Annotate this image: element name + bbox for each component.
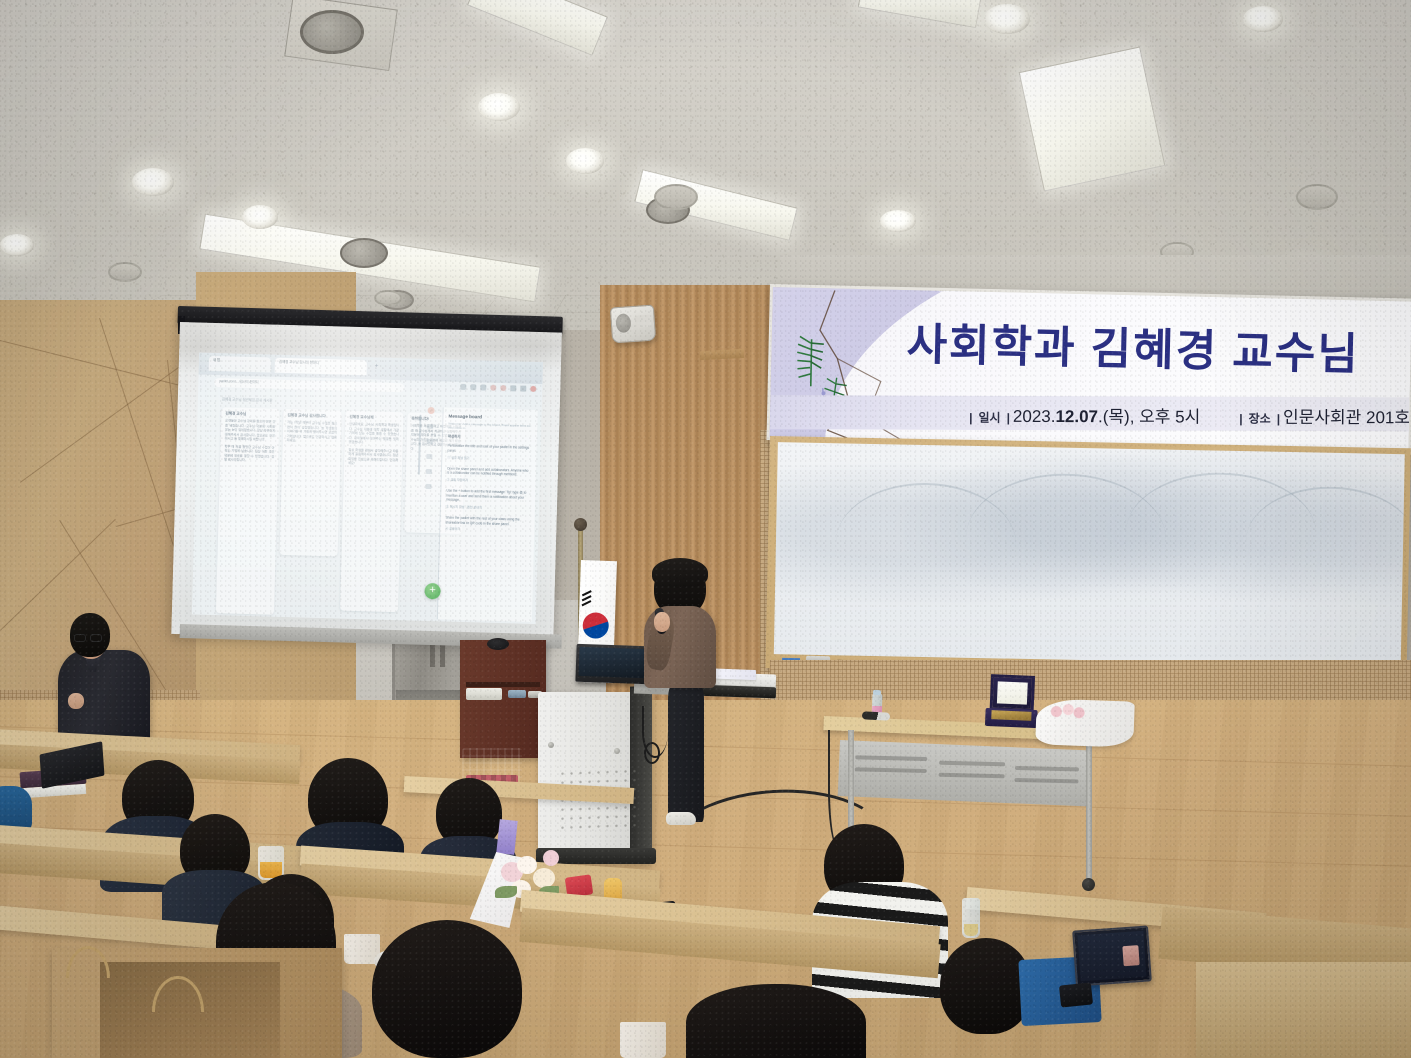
browser-toolbar [460,384,536,392]
ceiling-downlight [984,4,1030,34]
desk-side-panel [1196,962,1411,1058]
award-plaque-box [985,674,1039,728]
more-icon[interactable] [426,469,432,474]
browser-tab-2[interactable]: 김혜경 교수님 감사의 한마디 [275,358,367,376]
table-leg [1086,742,1092,882]
column-body: 오랫동안 교수님 강의를 들으며 많은 것을 배웠습니다. 교수님 덕분에 사회… [225,419,276,443]
id-photo [1122,945,1139,966]
handheld-microphone-icon[interactable] [862,711,890,720]
presenter-shoe [666,812,696,825]
board-column[interactable]: 김혜경 교수님 감사합니다 저는 1학년 때부터 교수님 수업을 들으면서 많이… [280,409,342,557]
padlet-board: 김혜경 교수님 정년퇴임 감사 게시판 김혜경 교수님 오랫동안 교수님 강의를… [192,393,542,625]
lectern-lock-icon [614,748,620,754]
panel-slot [939,773,1005,779]
panel-card-text: Personalize the title and look of your p… [447,444,531,456]
tablet-screen [1077,931,1146,981]
audience-head [686,984,866,1058]
ceiling-downlight-off [654,184,698,210]
panel-card-tag: ④ 공유하기 [445,527,529,533]
alert-icon[interactable] [480,384,486,390]
projector-screen: 새 탭 김혜경 교수님 감사의 한마디 + padlet.com/…/감사의-한… [171,322,562,645]
award-box-lid [990,674,1035,712]
panel-card[interactable]: Use the + button to add the first messag… [446,488,531,510]
banner-date-suffix: .(목), 오후 5시 [1098,402,1200,427]
banner-title: 사회학과 김혜경 교수님 [906,308,1361,382]
presenter-fringe [652,558,708,588]
column-heading: 김혜경 교수님께 [349,415,399,421]
banner-date-label-text: 일시 [975,409,1003,426]
lectern-lock-icon [548,742,554,748]
panel-card[interactable]: Personalize the title and look of your p… [447,444,531,462]
new-tab-plus-icon[interactable]: + [375,363,379,369]
audience-head [940,938,1032,1034]
presenter-legs [668,686,704,822]
bookmark-star-icon[interactable] [510,385,516,391]
padlet-side-panel: Message board Welcome! Add a message to … [437,407,538,622]
bottle-cap [873,690,881,695]
extension-icon[interactable] [500,385,506,391]
panel-card[interactable]: Share the padlet with the rest of your c… [445,515,529,533]
ceiling-downlight [132,168,174,196]
flower [543,850,559,866]
panel-card-tag: ② 공동 작업하기 [447,477,531,483]
ceiling-downlight [566,148,604,174]
banner-date-bold: 12.07 [1055,407,1098,427]
avatar[interactable] [530,386,536,392]
panel-card[interactable]: Open the share panel and add collaborato… [447,466,531,484]
panel-card-tag: ③ 메시지 작성 · 멘션 보내기 [446,504,530,510]
panel-subtitle: Welcome! Add a message to the board. Pos… [448,422,532,433]
banner-date-prefix: 2023. [1013,407,1056,427]
banner-date-label: | [1004,411,1013,425]
ceiling-downlight [0,234,34,256]
wall-facet-line [0,340,196,404]
glasses-lens [74,634,86,642]
bouquet-flowers [1048,701,1091,722]
plastic-cup [620,1022,666,1058]
water-bottle [962,898,980,938]
ceiling-downlight [242,205,278,229]
air-vent-icon [340,238,388,268]
browser-address-bar[interactable]: padlet.com/…/감사의-한마디 [214,378,404,392]
plastic-cup [344,934,380,964]
ceiling-downlight [880,210,916,232]
lectern-monitor [575,644,648,684]
panel-slot [855,767,927,773]
avatar[interactable] [427,407,434,414]
door-handle-icon[interactable] [430,645,435,667]
banner-info-line: | 일시 | 2023. 12.07 .(목), 오후 5시 | 장소 | 인문… [966,402,1410,429]
tablet-device[interactable] [1072,925,1152,986]
gear-icon[interactable] [427,424,433,429]
eyeglasses-icon [74,634,104,642]
panel-slot [1014,778,1078,784]
panel-slot [939,761,1005,767]
column-body: 항상 학생들 편에서 생각해주시고 따뜻하게 응원해주셔서 감사했습니다. 정년… [348,448,398,467]
sidebar-icon[interactable] [520,386,526,392]
browser-tab-1[interactable]: 새 탭 [209,356,271,373]
panel-slot [855,755,927,761]
event-banner: 사회학과 김혜경 교수님 | 일시 | 2023. 12.07 .(목), 오후… [766,284,1411,455]
glasses-lens [90,634,102,642]
projected-browser-window: 새 탭 김혜경 교수님 감사의 한마디 + padlet.com/…/감사의-한… [192,353,543,625]
smartphone[interactable] [1059,982,1093,1007]
cabinet-top-device [487,638,509,650]
fern-leaf-icon [789,336,827,387]
side-table-modesty-panel [838,740,1092,807]
extension-icon[interactable] [490,385,496,391]
filter-icon[interactable] [426,454,432,459]
taeguk-symbol [582,612,609,639]
flower [533,868,555,888]
panel-card-text: Use the + button to add the first messag… [446,488,530,504]
board-column[interactable]: 김혜경 교수님 오랫동안 교수님 강의를 들으며 많은 것을 배웠습니다. 교수… [216,407,280,615]
board-column[interactable]: 김혜경 교수님께 안녕하세요, 교수님. 사회학과 학생입니다. 교수님 덕분에… [340,411,404,613]
panel-slot [1015,766,1079,772]
presenter-hand [654,612,670,632]
whiteboard-frame [766,436,1411,680]
lecture-hall-photo: 새 탭 김혜경 교수님 감사의 한마디 + padlet.com/…/감사의-한… [0,0,1411,1058]
banner-place-value: 인문사회관 201호 [1283,403,1410,428]
wall-facet-line [20,353,196,483]
collapse-icon[interactable] [425,484,431,489]
edit-icon[interactable] [470,384,476,390]
ceiling-downlight-off [108,262,142,282]
award-plaque [991,710,1031,721]
banner-place-label: | [1274,412,1283,426]
audience-head [372,920,522,1058]
ceiling-downlight-off [374,290,402,306]
man-hand [68,693,84,709]
column-body: 안녕하세요, 교수님. 사회학과 학생입니다. 교수님 덕분에 대학 생활에서 … [349,422,400,446]
share-icon[interactable] [427,439,433,444]
cabinet-shelf [466,682,540,687]
column-body: 저는 1학년 때부터 교수님 수업을 들으면서 많이 성장했습니다. 늘 학생들… [287,421,338,445]
ceiling-downlight-off [1296,184,1338,210]
panel-card-tag: ① 설정 패널 열기 [447,455,531,461]
panel-card-text: Share the padlet with the rest of your c… [445,515,529,527]
cabinet-device [508,690,526,698]
ceiling-downlight [478,93,520,121]
microphone-cable-loop [644,742,660,764]
banner-date-label: | [966,411,975,425]
wall-speaker-icon [610,305,656,344]
panel-heading: Message board [448,414,532,421]
cabinet-box [466,688,502,700]
table-caster [1082,878,1095,891]
leaf-icon [495,886,517,898]
door-handle-icon[interactable] [440,645,445,667]
banner-place-label: | [1236,412,1245,426]
whiteboard[interactable] [774,442,1405,666]
board-title: 김혜경 교수님 정년퇴임 감사 게시판 [222,396,273,402]
column-heading: 김혜경 교수님 감사합니다 [287,413,337,419]
column-heading: 김혜경 교수님 [225,411,275,417]
ceiling-downlight [1243,6,1283,32]
air-vent-icon [300,10,364,54]
column-body: 학부 때 처음 들었던 교수님 수업이 아직도 기억에 남습니다. 진심 어린 … [224,444,274,463]
flag-finial [574,518,587,531]
fluorescent-fixture [1019,46,1166,191]
download-icon[interactable] [460,384,466,390]
banner-place-label-text: 장소 [1246,410,1274,427]
panel-korean-label: 작성하기 [448,434,532,441]
panel-card-text: Open the share panel and add collaborato… [447,466,531,478]
